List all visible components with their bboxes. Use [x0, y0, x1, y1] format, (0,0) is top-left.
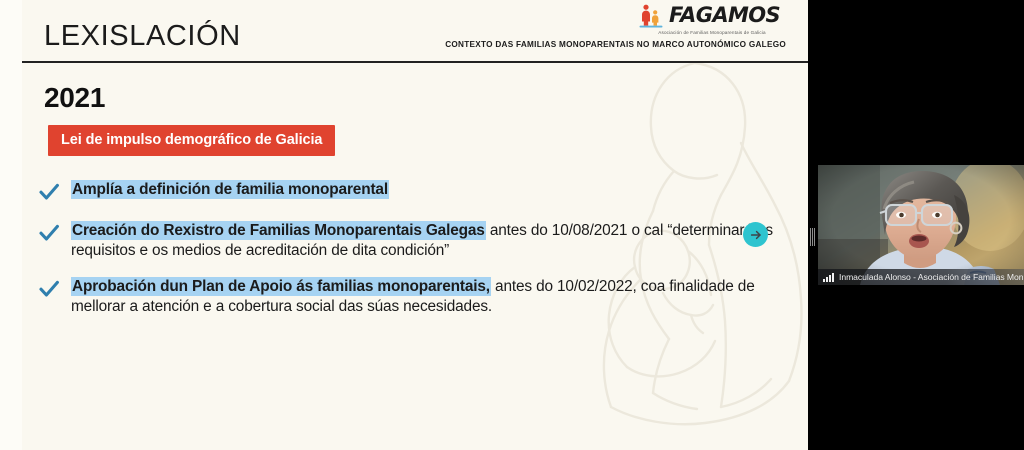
check-icon [36, 179, 62, 205]
fagamos-logo: FAGAMOS Asociación de Familias Monoparen… [638, 2, 786, 38]
logo-tagline: Asociación de Familias Monoparentais de … [638, 30, 786, 35]
arrow-right-circle-icon[interactable] [743, 222, 768, 247]
check-icon [36, 220, 62, 246]
list-item: Creación do Rexistro de Familias Monopar… [36, 221, 796, 261]
list-item: Amplía a definición de familia monoparen… [36, 180, 796, 205]
list-item-text: Creación do Rexistro de Familias Monopar… [71, 221, 796, 261]
list-item-text: Amplía a definición de familia monoparen… [71, 180, 796, 200]
meeting-screen: LEXISLACIÓN FAGAMOS Asociación de [0, 0, 1024, 450]
list-item: Aprobación dun Plan de Apoio ás familias… [36, 277, 796, 317]
family-parent-child-icon [638, 3, 664, 29]
list-item-highlight: Aprobación dun Plan de Apoio ás familias… [71, 277, 491, 296]
slide-body: 2021 Lei de impulso demográfico de Galic… [0, 62, 808, 450]
header-subtitle: CONTEXTO DAS FAMILIAS MONOPARENTAIS NO M… [445, 40, 786, 49]
check-icon [36, 276, 62, 302]
shared-slide: LEXISLACIÓN FAGAMOS Asociación de [0, 0, 808, 450]
signal-bars-icon [823, 273, 834, 282]
logo-wordmark: FAGAMOS [669, 5, 780, 26]
year-heading: 2021 [44, 82, 105, 114]
participant-video-tile[interactable]: Inmaculada Alonso - Asociación de Famili… [818, 165, 1024, 285]
law-banner: Lei de impulso demográfico de Galicia [48, 125, 335, 156]
list-item-highlight: Amplía a definición de familia monoparen… [71, 180, 389, 199]
resize-handle-icon[interactable] [810, 228, 815, 246]
webcam-participant-video [818, 165, 1024, 285]
page-title: LEXISLACIÓN [44, 20, 241, 53]
list-item-text: Aprobación dun Plan de Apoio ás familias… [71, 277, 796, 317]
slide-header: LEXISLACIÓN FAGAMOS Asociación de [0, 0, 808, 62]
participant-name-bar: Inmaculada Alonso - Asociación de Famili… [818, 269, 1024, 285]
list-item-highlight: Creación do Rexistro de Familias Monopar… [71, 221, 486, 240]
participant-name: Inmaculada Alonso - Asociación de Famili… [839, 272, 1024, 282]
bullet-list: Amplía a definición de familia monoparen… [36, 180, 796, 317]
